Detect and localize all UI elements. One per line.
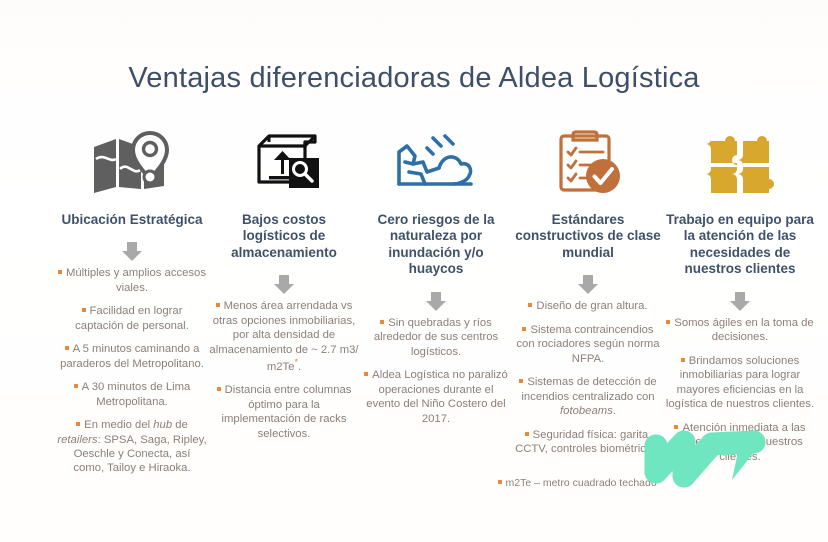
bullet-item: En medio del hub de retailers: SPSA, Sag… <box>56 418 208 476</box>
puzzle-pieces-icon <box>703 124 777 202</box>
bullet-marker <box>666 320 670 324</box>
advantage-column-trabajo-en-equipo: Trabajo en equipo para la atención de la… <box>664 124 816 473</box>
advantage-column-estandares: Estándares constructivos de clase mundia… <box>512 124 664 465</box>
bullet-marker <box>519 379 523 383</box>
bullet-text: Brindamos soluciones inmobiliarias para … <box>666 355 814 410</box>
bullet-text: A 5 minutos caminando a paraderos del Me… <box>60 343 204 369</box>
advantage-column-ubicacion-estrategica: Ubicación Estratégica Múltiples y amplio… <box>56 124 208 485</box>
advantage-heading: Bajos costos logísticos de almacenamient… <box>208 212 360 261</box>
package-search-icon <box>245 124 323 202</box>
advantages-columns: Ubicación Estratégica Múltiples y amplio… <box>56 124 816 485</box>
bullet-marker <box>217 387 221 391</box>
bullet-item: Menos área arrendada vs otras opciones i… <box>208 299 360 374</box>
advantage-bullet-list: Diseño de gran altura. Sistema contrainc… <box>512 299 664 465</box>
bullet-item: Diseño de gran altura. <box>512 299 664 313</box>
advantage-bullet-list: Sin quebradas y ríos alrededor de sus ce… <box>360 316 512 435</box>
slide-canvas: Ventajas diferenciadoras de Aldea Logíst… <box>0 0 828 542</box>
bullet-marker <box>65 346 69 350</box>
bullet-marker <box>82 308 86 312</box>
bullet-marker <box>74 384 78 388</box>
bullet-marker <box>525 432 529 436</box>
bullet-item: Sin quebradas y ríos alrededor de sus ce… <box>360 316 512 359</box>
bullet-text: Atención inmediata a las necesidades de … <box>677 422 805 463</box>
bullet-text: Somos ágiles en la toma de decisiones. <box>674 317 813 343</box>
bullet-marker <box>674 425 678 429</box>
bullet-text: Sistema contraincendios con rociadores s… <box>516 324 659 365</box>
bullet-item: Brindamos soluciones inmobiliarias para … <box>664 354 816 412</box>
arrow-down-icon <box>121 240 143 262</box>
bullet-item: Sistemas de detección de incendios centr… <box>512 375 664 418</box>
bullet-text-pre: Menos área arrendada vs otras opciones i… <box>209 300 358 373</box>
bullet-item: Aldea Logística no paralizó operaciones … <box>360 368 512 426</box>
bullet-item: A 30 minutos de Lima Metropolitana. <box>56 380 208 409</box>
bullet-marker <box>380 320 384 324</box>
advantage-heading: Estándares constructivos de clase mundia… <box>512 212 664 261</box>
bullet-item: Somos ágiles en la toma de decisiones. <box>664 316 816 345</box>
bullet-marker <box>681 358 685 362</box>
footnote: m2Te – metro cuadrado techado <box>498 477 657 489</box>
advantage-heading: Ubicación Estratégica <box>59 212 204 228</box>
footnote-text: m2Te – metro cuadrado techado <box>506 477 657 489</box>
bullet-marker <box>498 480 502 484</box>
bullet-marker <box>522 327 526 331</box>
arrow-down-icon <box>273 273 295 295</box>
bullet-marker <box>364 372 368 376</box>
arrow-down-icon <box>425 290 447 312</box>
arrow-down-icon <box>729 290 751 312</box>
bullet-item: Distancia entre columnas óptimo para la … <box>208 383 360 441</box>
page-title: Ventajas diferenciadoras de Aldea Logíst… <box>0 62 828 95</box>
bullet-text-pre: En medio del <box>84 419 153 431</box>
bullet-emphasis-2: retailers <box>57 434 97 446</box>
bullet-text: Seguridad física: garita, CCTV, controle… <box>515 429 661 455</box>
map-pin-icon <box>90 124 174 202</box>
bullet-text: Facilidad en lograr captación de persona… <box>75 305 189 331</box>
bullet-text: Distancia entre columnas óptimo para la … <box>222 384 352 439</box>
bullet-item: Seguridad física: garita, CCTV, controle… <box>512 428 664 457</box>
bullet-item: Atención inmediata a las necesidades de … <box>664 421 816 464</box>
bullet-text: Sin quebradas y ríos alrededor de sus ce… <box>374 317 498 358</box>
advantage-heading: Cero riesgos de la naturaleza por inunda… <box>360 212 512 278</box>
bullet-marker <box>58 270 62 274</box>
bullet-text-pre: Sistemas de detección de incendios centr… <box>521 376 656 402</box>
bullet-item: Sistema contraincendios con rociadores s… <box>512 323 664 366</box>
bullet-text-post: . <box>298 361 301 373</box>
bullet-emphasis: fotobeams <box>560 405 613 417</box>
bullet-text: A 30 minutos de Lima Metropolitana. <box>82 381 191 407</box>
bullet-text: Diseño de gran altura. <box>536 300 647 312</box>
bullet-marker <box>76 422 80 426</box>
bullet-text: Aldea Logística no paralizó operaciones … <box>366 369 508 424</box>
advantage-bullet-list: Somos ágiles en la toma de decisiones. B… <box>664 316 816 473</box>
bullet-marker <box>528 303 532 307</box>
clipboard-check-icon <box>551 124 625 202</box>
bullet-item: A 5 minutos caminando a paraderos del Me… <box>56 342 208 371</box>
bullet-item: Facilidad en lograr captación de persona… <box>56 304 208 333</box>
advantage-bullet-list: Menos área arrendada vs otras opciones i… <box>208 299 360 450</box>
bullet-text-mid: de <box>172 419 188 431</box>
bullet-emphasis: hub <box>153 419 172 431</box>
bullet-text: Múltiples y amplios accesos viales. <box>66 267 206 293</box>
bullet-item: Múltiples y amplios accesos viales. <box>56 266 208 295</box>
arrow-down-icon <box>577 273 599 295</box>
landslide-icon <box>393 124 479 202</box>
bullet-marker <box>216 303 220 307</box>
bullet-text-post: . <box>613 405 616 417</box>
advantage-column-bajos-costos: Bajos costos logísticos de almacenamient… <box>208 124 360 450</box>
advantage-bullet-list: Múltiples y amplios accesos viales. Faci… <box>56 266 208 484</box>
advantage-column-cero-riesgos: Cero riesgos de la naturaleza por inunda… <box>360 124 512 435</box>
advantage-heading: Trabajo en equipo para la atención de la… <box>664 212 816 278</box>
